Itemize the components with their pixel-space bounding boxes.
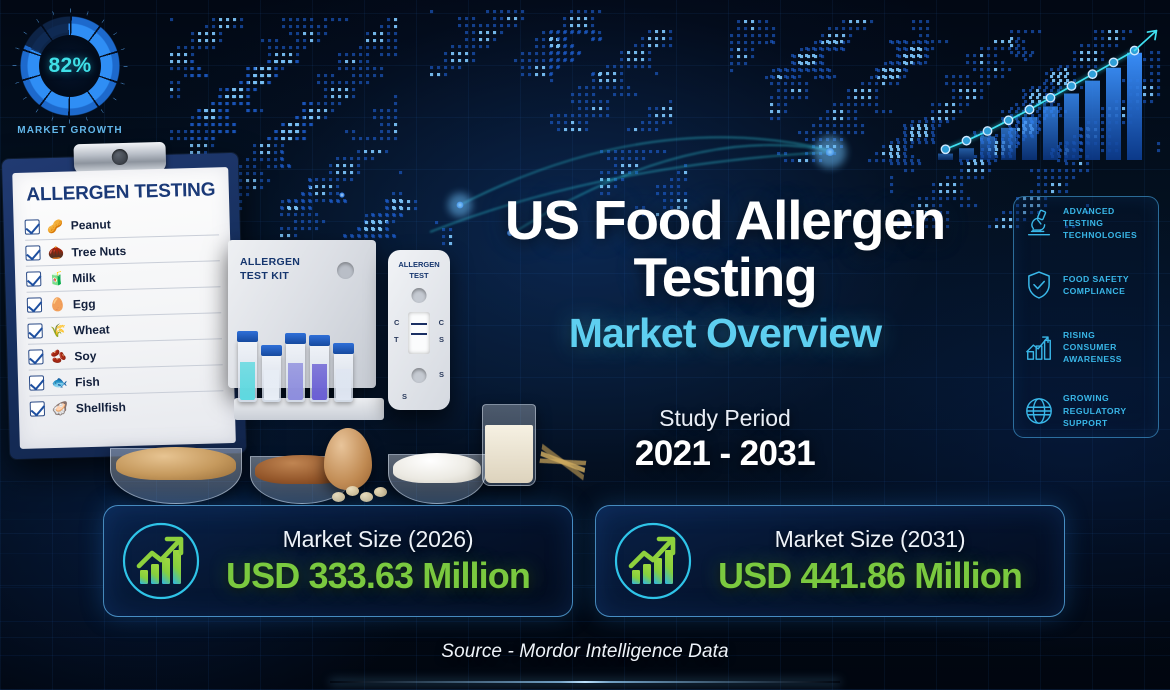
vial-cap-5 [333,343,354,354]
growth-bar-chart [928,8,1158,168]
allergen-test-kit: ALLERGEN TEST KIT ALLERGEN TEST C T C S … [228,240,388,420]
allergen-label-4: Wheat [73,322,109,337]
cassette-band-c [411,323,427,325]
market-growth-gauge: 82% MARKET GROWTH [10,12,130,140]
page-title-line2: Testing [430,249,1020,306]
soybean-2 [346,486,359,496]
checkbox-1[interactable] [25,245,40,260]
page-subtitle: Market Overview [430,310,1020,357]
test-vial-4 [310,344,329,402]
market-card-label-2031: Market Size (2031) [696,526,1044,553]
feature-4-line3: SUPPORT [1063,418,1108,428]
feature-food-safety-compliance[interactable]: FOOD SAFETY COMPLIANCE [1022,268,1151,302]
feature-4-line1: GROWING [1063,393,1109,403]
vial-cap-4 [309,335,330,346]
market-size-card-2031[interactable]: Market Size (2031) USD 441.86 Million [595,505,1065,617]
market-card-value-2026: USD 333.63 Million [204,555,552,597]
microscope-icon [1022,206,1056,240]
study-period-label: Study Period [540,405,910,432]
checkbox-7[interactable] [30,401,45,416]
soy-icon: 🫘 [50,350,67,363]
milk-glass [482,404,536,486]
tree-nuts-icon: 🌰 [47,246,64,259]
flour-mound [393,453,481,483]
test-kit-box-label: ALLERGEN TEST KIT [240,255,300,283]
test-kit-hole [337,262,354,279]
egg-prop [324,428,372,490]
vial-cap-1 [237,331,258,342]
globe-icon [1022,394,1056,428]
growth-chart-icon [610,518,696,604]
checkbox-6[interactable] [29,375,44,390]
cassette-marker-s2: S [439,370,444,379]
peanut-mound [116,447,236,480]
allergen-label-3: Egg [73,296,96,311]
feature-growing-regulatory-support[interactable]: GROWING REGULATORY SUPPORT [1022,392,1151,429]
flour-bowl [388,454,486,504]
feature-4-line2: REGULATORY [1063,406,1127,416]
feature-label-2: FOOD SAFETY COMPLIANCE [1063,273,1129,297]
market-card-body-2031: Market Size (2031) USD 441.86 Million [696,526,1050,597]
test-vial-1 [238,340,257,402]
shellfish-icon: 🦪 [52,402,69,415]
feature-label-1: ADVANCED TESTING TECHNOLOGIES [1063,205,1137,242]
checkbox-4[interactable] [27,323,42,338]
feature-label-3: RISING CONSUMER AWARENESS [1063,329,1151,366]
feature-1-line3: TECHNOLOGIES [1063,230,1137,240]
market-card-body-2026: Market Size (2026) USD 333.63 Million [204,526,558,597]
market-card-value-2031: USD 441.86 Million [696,555,1044,597]
cassette-sample-well [412,288,427,303]
soybean-4 [374,487,387,497]
food-allergen-props [110,398,550,510]
vial-fluid-5 [336,369,351,400]
cassette-marker-t-left: T [394,335,399,344]
gauge-value: 82% [49,54,92,78]
cassette-lower-well [412,368,427,383]
cassette-band-t [411,333,427,335]
growth-chart-icon [118,518,204,604]
soybean-3 [360,492,373,502]
feature-1-line2: TESTING [1063,218,1103,228]
feature-panel: ADVANCED TESTING TECHNOLOGIES FOOD SAFET… [1013,196,1159,438]
vial-fluid-1 [240,362,255,400]
vial-cap-3 [285,333,306,344]
fish-icon: 🐟 [51,376,68,389]
market-size-card-2026[interactable]: Market Size (2026) USD 333.63 Million [103,505,573,617]
vial-cap-2 [261,345,282,356]
title-block: US Food Allergen Testing Market Overview [430,192,1020,357]
allergen-label-0: Peanut [71,217,111,232]
vial-fluid-3 [288,363,303,400]
feature-advanced-testing-technologies[interactable]: ADVANCED TESTING TECHNOLOGIES [1022,205,1151,242]
feature-2-line1: FOOD SAFETY [1063,274,1129,284]
egg-icon: 🥚 [49,298,66,311]
test-vial-5 [334,352,353,402]
study-period: Study Period 2021 - 2031 [540,405,910,474]
checkbox-2[interactable] [26,271,41,286]
cassette-marker-c-left: C [394,318,399,327]
bar-chart-up-icon [1022,330,1056,364]
peanut-bowl [110,448,242,504]
gauge-center: 82% [39,35,101,97]
feature-2-line2: COMPLIANCE [1063,286,1125,296]
allergen-label-1: Tree Nuts [71,243,126,259]
page-title-line1: US Food Allergen [430,192,1020,249]
vial-fluid-4 [312,364,327,400]
source-attribution: Source - Mordor Intelligence Data [0,641,1170,663]
soybean-1 [332,492,345,502]
wheat-icon: 🌾 [49,324,66,337]
peanut-icon: 🥜 [47,219,64,232]
test-vial-3 [286,342,305,402]
allergen-label-5: Soy [74,348,96,363]
milk-fill [485,425,533,483]
allergen-checklist: 🥜Peanut🌰Tree Nuts🧃Milk🥚Egg🌾Wheat🫘Soy🐟Fis… [24,208,224,421]
feature-3-line2: AWARENESS [1063,354,1122,364]
test-kit-label-line2: TEST KIT [240,269,300,283]
gauge-dial: 82% [16,12,124,120]
study-period-value: 2021 - 2031 [540,434,910,474]
allergen-label-6: Fish [75,374,100,389]
checkbox-3[interactable] [27,297,42,312]
feature-3-line1: RISING CONSUMER [1063,330,1117,352]
checkbox-0[interactable] [25,219,40,234]
test-vial-2 [262,354,281,402]
feature-label-4: GROWING REGULATORY SUPPORT [1063,392,1127,429]
vial-fluid-2 [264,370,279,400]
shield-check-icon [1022,268,1056,302]
test-kit-label-line1: ALLERGEN [240,255,300,269]
infographic-canvas: 82% MARKET GROWTH ALLERGEN TESTING 🥜Pean… [0,0,1170,690]
checkbox-5[interactable] [28,349,43,364]
gauge-label: MARKET GROWTH [10,125,130,136]
market-card-label-2026: Market Size (2026) [204,526,552,553]
milk-icon: 🧃 [48,272,65,285]
allergen-label-2: Milk [72,270,96,285]
feature-1-line1: ADVANCED [1063,206,1115,216]
feature-rising-consumer-awareness[interactable]: RISING CONSUMER AWARENESS [1022,329,1151,366]
footer-divider [330,681,840,683]
cassette-result-window [408,312,430,354]
clipboard-title: ALLERGEN TESTING [24,179,219,206]
